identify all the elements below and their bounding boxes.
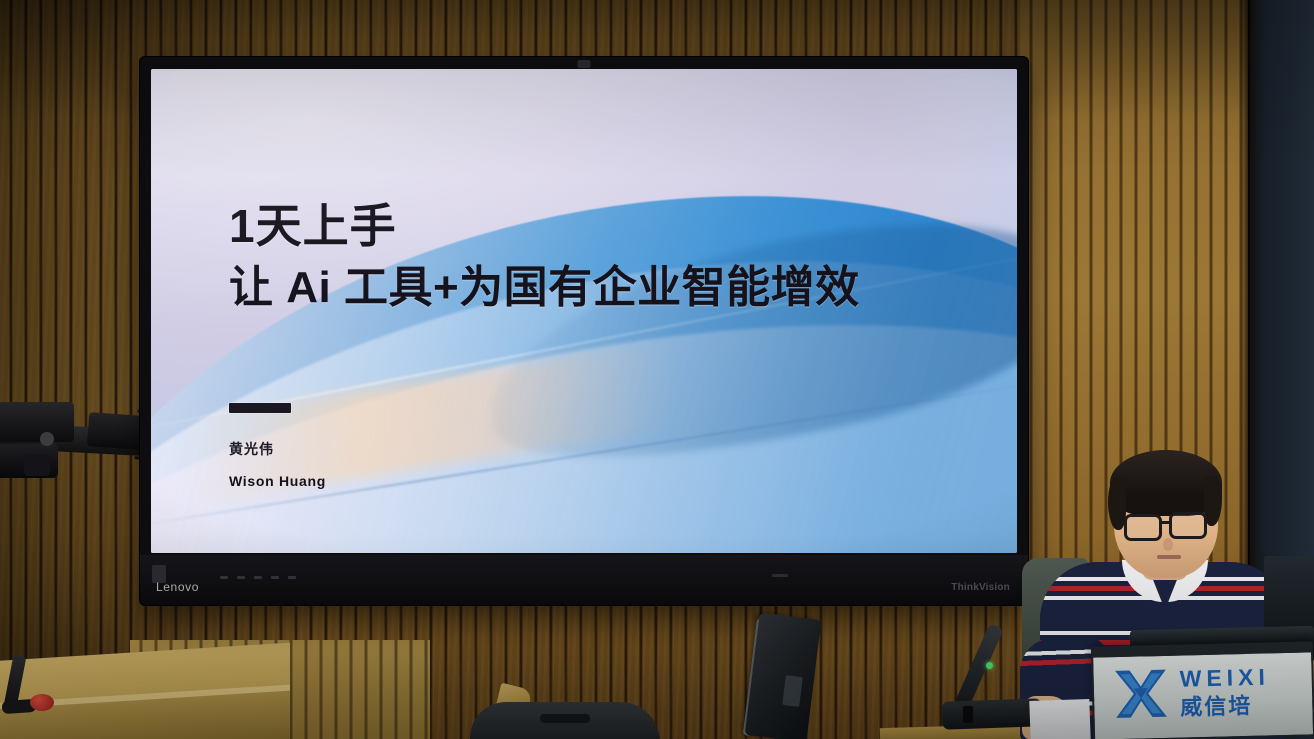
slide-accent-bar [229, 403, 291, 413]
glasses-right-lens [1169, 512, 1207, 539]
weixin-logo-en: WEIXI [1179, 665, 1270, 690]
display-power-button[interactable] [288, 576, 296, 579]
display-button-1[interactable] [220, 576, 228, 579]
weixin-branding: WEIXI 威信培 [1111, 652, 1314, 733]
glasses-bridge [1161, 521, 1171, 524]
microphone-led-indicator [986, 662, 993, 669]
slide-title-block: 1天上手 让 Ai 工具+为国有企业智能增效 [229, 201, 969, 314]
presentation-slide: 1天上手 让 Ai 工具+为国有企业智能增效 黄光伟 Wison Huang [151, 69, 1017, 553]
slide-title-line-1: 1天上手 [229, 201, 969, 253]
tablet-label [782, 675, 803, 707]
weixin-logo-icon [1111, 664, 1170, 723]
webcam-icon [578, 60, 591, 68]
microphone-mute-button[interactable] [963, 706, 973, 723]
display-bottom-bezel: Lenovo ThinkVision [140, 555, 1028, 605]
camera-lens [24, 454, 50, 476]
presenter-name-cn: 黄光伟 [229, 439, 326, 459]
glasses-left-lens [1124, 514, 1162, 541]
display-indicator [772, 574, 788, 577]
weixin-logo-cn: 威信培 [1180, 694, 1271, 718]
display-control-buttons[interactable] [220, 576, 296, 579]
classroom-scene: 1天上手 让 Ai 工具+为国有企业智能增效 黄光伟 Wison Huang [0, 0, 1314, 739]
weixin-text-block: WEIXI 威信培 [1179, 665, 1270, 718]
camera-knob [40, 432, 54, 446]
camera-body [0, 402, 74, 442]
presenter-name-en: Wison Huang [229, 473, 326, 489]
lenovo-logo: Lenovo [156, 580, 199, 594]
red-object [30, 694, 54, 711]
thinkvision-logo: ThinkVision [951, 582, 1010, 593]
slide-title-line-2: 让 Ai 工具+为国有企业智能增效 [229, 261, 969, 315]
display-button-3[interactable] [254, 576, 262, 579]
slide-presenter-byline: 黄光伟 Wison Huang [229, 439, 326, 489]
lenovo-thinkvision-display: 1天上手 让 Ai 工具+为国有企业智能增效 黄光伟 Wison Huang [140, 57, 1028, 605]
backpack-handle [540, 714, 590, 723]
microphone-base[interactable] [942, 698, 1043, 729]
display-button-4[interactable] [271, 576, 279, 579]
display-screen: 1天上手 让 Ai 工具+为国有企业智能增效 黄光伟 Wison Huang [151, 69, 1017, 553]
display-button-2[interactable] [237, 576, 245, 579]
desk-white-object [1029, 699, 1090, 739]
presenter-mouth [1157, 555, 1181, 559]
camera-rig [0, 392, 163, 500]
presenter-nose [1163, 538, 1173, 551]
